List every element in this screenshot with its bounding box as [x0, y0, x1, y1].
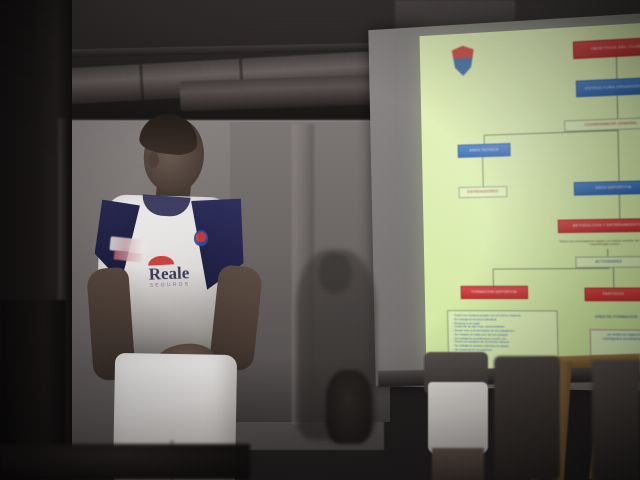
audience-person-shorts [428, 382, 488, 454]
photo-scene: OBJETIVOS DEL CLUBESTRUCTURA ORGANIZATIV… [0, 0, 640, 480]
audience-person-legs [432, 448, 484, 480]
slide-node-n8: Todos los entrenadores siguen un mismo m… [552, 236, 640, 250]
presenter-ear [148, 152, 159, 168]
slide-connector [493, 269, 494, 286]
slide-node-n12: AREA DE FORMACION [574, 313, 640, 324]
presenter: Reale SEGUROS [86, 118, 306, 480]
slide-connector [607, 249, 608, 256]
slide-connector [616, 57, 618, 79]
slide-node-n6: AREA DEPORTIVA [574, 180, 640, 195]
slide-side-note-line: conseguidos semanalmente [595, 337, 640, 342]
audience-person-edge [592, 360, 640, 480]
slide-connector [617, 95, 619, 118]
slide-content: OBJETIVOS DEL CLUBESTRUCTURA ORGANIZATIV… [420, 22, 640, 374]
slide-connector [613, 268, 615, 288]
slide-node-n4: AREA TECNICA [458, 143, 511, 158]
slide-node-n1: OBJETIVOS DEL CLUB [573, 37, 640, 59]
slide-connector [484, 135, 485, 144]
slide-node-n11: PARTIDOS [584, 288, 640, 302]
audience-person-dark [494, 356, 560, 480]
slide-node-n3: COORDINADOR GENERAL [564, 117, 640, 132]
slide-node-n10: FORMACION DEPORTIVA [461, 286, 529, 299]
slide-node-n2: ESTRUCTURA ORGANIZATIVA [576, 77, 640, 97]
slide-connector [617, 130, 619, 181]
audience-person-white-shorts [424, 352, 496, 480]
club-crest-logo [452, 45, 475, 76]
slide-node-n5: ENTRENADORES [459, 186, 508, 198]
slide-connector [619, 195, 621, 219]
slide-node-n7: METODOLOGIA Y ENTRENAMIENTO [558, 218, 640, 233]
slide-connector [482, 157, 484, 186]
slide-node-n9: ACTIVIDADES [575, 256, 640, 268]
wall-shadow-head [318, 252, 352, 294]
dark-foreground-object [326, 370, 372, 444]
slide-connector [493, 268, 610, 270]
slide-connector [484, 130, 618, 136]
projection-screen-surface: OBJETIVOS DEL CLUBESTRUCTURA ORGANIZATIV… [420, 22, 640, 374]
foreground-dark-bottom [0, 444, 250, 480]
